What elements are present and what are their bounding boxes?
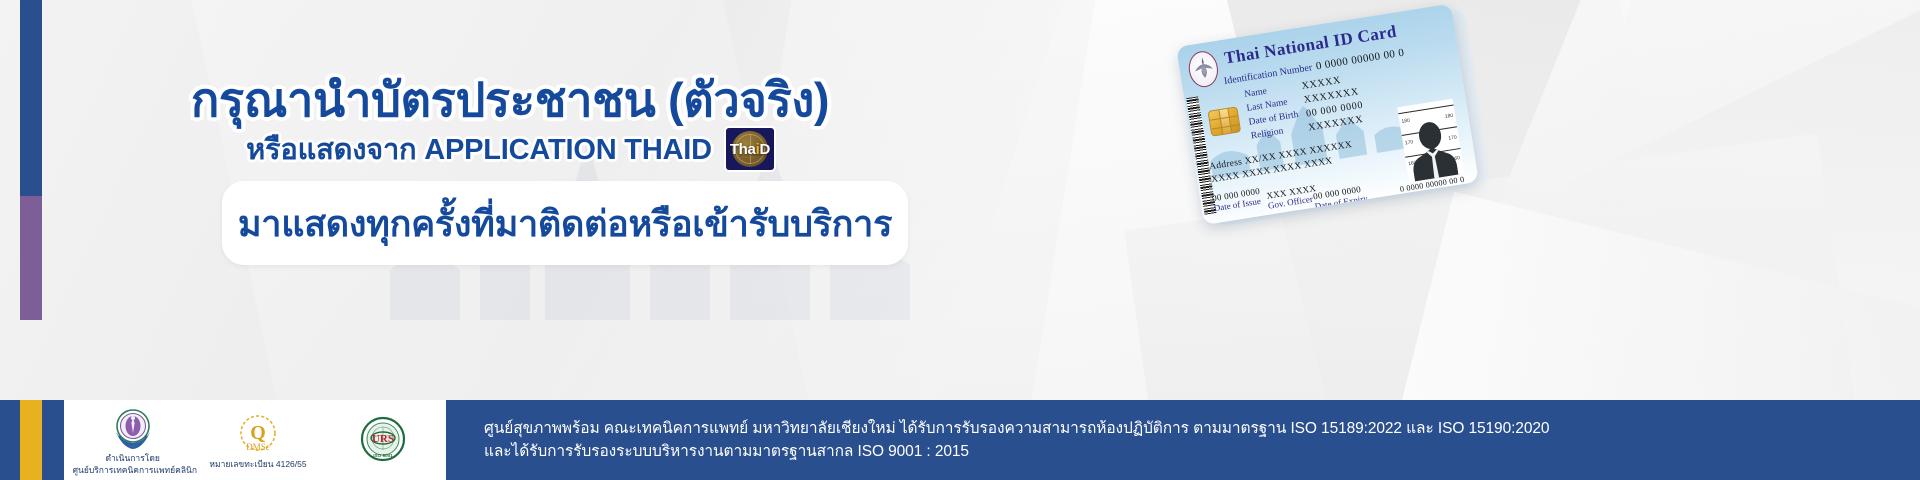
footer-bar: ดำเนินการโดย ศูนย์บริการเทคนิคการแพทย์คล… xyxy=(0,400,1920,480)
promotional-banner: กรุณานำบัตรประชาชน (ตัวจริง) หรือแสดงจาก… xyxy=(0,0,1920,480)
card-portrait-photo: 180 180 170 170 160 160 xyxy=(1397,99,1464,183)
thaid-app-logo-icon[interactable]: ThaiD xyxy=(726,128,774,170)
footer-bar-blue-left xyxy=(0,400,20,480)
urs-seal-icon: URS ISO 9001 xyxy=(323,416,443,462)
card-issue-block: 00 000 0000 Date of Issue xyxy=(1211,186,1262,213)
footer-logo-dmsc: Q DMSc หมายเลขทะเบียน 4126/55 xyxy=(198,411,318,469)
svg-text:URS: URS xyxy=(372,433,394,445)
thaid-text-tha: Tha xyxy=(730,141,756,158)
callout-card: มาแสดงทุกครั้งที่มาติดต่อหรือเข้ารับบริก… xyxy=(222,181,908,265)
svg-text:ISO 9001: ISO 9001 xyxy=(374,453,394,458)
card-officer-block: XXX XXXX Gov. Officer xyxy=(1266,183,1319,211)
thai-national-id-card: Thai National ID Card Identification Num… xyxy=(1175,0,1517,328)
person-silhouette-icon xyxy=(1406,117,1459,181)
clinic-caption-line-2: ศูนย์บริการเทคนิคการแพทย์คลินิก xyxy=(73,465,193,475)
card-chip-icon xyxy=(1207,106,1241,136)
dmsc-seal-icon: Q DMSc xyxy=(198,411,318,457)
footer-logo-strip: ดำเนินการโดย ศูนย์บริการเทคนิคการแพทย์คล… xyxy=(70,400,446,480)
footer-text-panel: ศูนย์สุขภาพพร้อม คณะเทคนิคการแพทย์ มหาวิ… xyxy=(446,400,1920,480)
thaid-text-d: D xyxy=(759,141,770,158)
svg-text:Q: Q xyxy=(250,422,266,444)
footer-text-line-1: ศูนย์สุขภาพพร้อม คณะเทคนิคการแพทย์ มหาวิ… xyxy=(484,417,1920,440)
headline-line-2-row: หรือแสดงจาก APPLICATION THAID ThaiD xyxy=(0,126,1020,172)
callout-text: มาแสดงทุกครั้งที่มาติดต่อหรือเข้ารับบริก… xyxy=(238,195,892,252)
clinic-caption-line-1: ดำเนินการโดย xyxy=(73,453,193,463)
footer-logo-urs: URS ISO 9001 xyxy=(323,416,443,464)
garuda-seal-icon xyxy=(1186,49,1220,89)
footer-bar-blue-right xyxy=(42,400,64,480)
footer-text-line-2: และได้รับการรับรองระบบบริหารงานตามมาตรฐา… xyxy=(484,440,1920,463)
clinic-seal-icon xyxy=(73,405,193,451)
thaid-logo-text: ThaiD xyxy=(730,142,770,157)
headline-line-2: หรือแสดงจาก APPLICATION THAID xyxy=(246,126,712,172)
dmsc-caption-line-1: หมายเลขทะเบียน 4126/55 xyxy=(198,459,318,469)
left-accent-bar-purple xyxy=(20,196,42,320)
footer-logo-clinic: ดำเนินการโดย ศูนย์บริการเทคนิคการแพทย์คล… xyxy=(73,405,193,475)
footer-bar-gold xyxy=(20,400,42,480)
svg-text:DMSc: DMSc xyxy=(246,442,270,452)
